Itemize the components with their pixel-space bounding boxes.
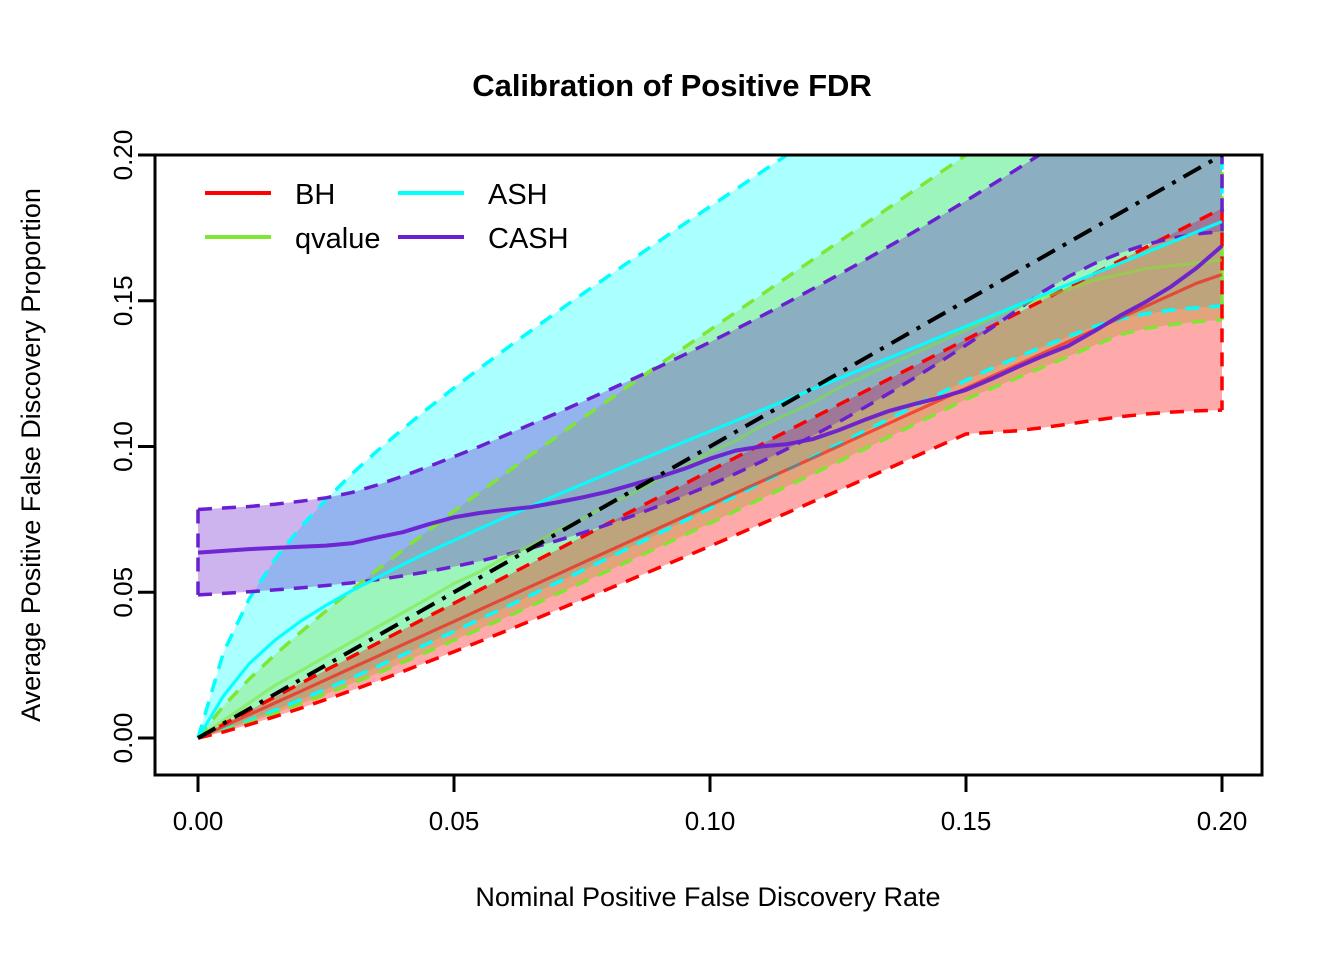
x-axis-ticks: 0.000.050.100.150.20 xyxy=(173,775,1248,836)
y-axis-ticks: 0.000.050.100.150.20 xyxy=(108,130,155,764)
calibration-plot: Calibration of Positive FDR 0.000.050.10… xyxy=(0,0,1344,960)
legend-label-cash: CASH xyxy=(488,223,569,255)
chart-title: Calibration of Positive FDR xyxy=(472,68,872,103)
chart-canvas: Calibration of Positive FDR 0.000.050.10… xyxy=(0,0,1344,960)
y-tick-label: 0.20 xyxy=(108,130,138,181)
y-tick-label: 0.05 xyxy=(108,567,138,618)
x-tick-label: 0.20 xyxy=(1197,806,1248,836)
x-tick-label: 0.15 xyxy=(941,806,992,836)
series-layer xyxy=(198,0,1222,738)
y-tick-label: 0.00 xyxy=(108,713,138,764)
x-tick-label: 0.10 xyxy=(685,806,736,836)
chart-legend: BHqvalueASHCASH xyxy=(205,179,569,255)
legend-label-bh: BH xyxy=(295,179,335,211)
y-tick-label: 0.15 xyxy=(108,275,138,326)
x-tick-label: 0.00 xyxy=(173,806,224,836)
legend-label-ash: ASH xyxy=(488,179,548,211)
legend-label-qvalue: qvalue xyxy=(295,223,380,255)
x-tick-label: 0.05 xyxy=(429,806,480,836)
y-tick-label: 0.10 xyxy=(108,421,138,472)
y-axis-title: Average Positive False Discovery Proport… xyxy=(16,188,46,722)
x-axis-title: Nominal Positive False Discovery Rate xyxy=(475,882,940,912)
